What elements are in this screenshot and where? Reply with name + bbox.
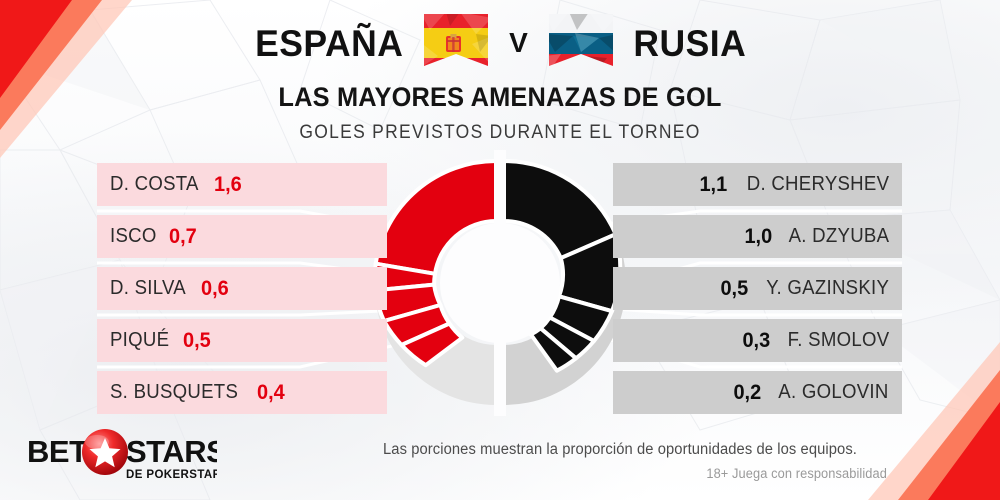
spain-flag-icon xyxy=(420,12,492,74)
legend-row-russia-0[interactable]: 1,1 D. CHERYSHEV xyxy=(613,163,902,206)
chart-footnote: Las porciones muestran la proporción de … xyxy=(354,441,886,459)
player-value: 1,6 xyxy=(214,173,242,197)
legend-panel-spain: D. COSTA 1,6 ISCO 0,7 D. SILVA 0,6 PIQUÉ… xyxy=(97,163,387,423)
betstars-logo[interactable]: BET STARS DE POKERSTARS xyxy=(27,428,217,486)
player-name: D. SILVA xyxy=(110,277,186,300)
player-value: 0,6 xyxy=(201,277,229,301)
player-value: 0,3 xyxy=(743,329,771,353)
team-left-name: ESPAÑA xyxy=(255,25,403,62)
legend-row-russia-1[interactable]: 1,0 A. DZYUBA xyxy=(613,215,902,258)
player-name: D. CHERYSHEV xyxy=(746,173,889,196)
player-value: 0,7 xyxy=(169,225,197,249)
player-value: 0,5 xyxy=(720,277,748,301)
player-value: 1,1 xyxy=(699,173,727,197)
header: ESPAÑA xyxy=(0,0,1000,152)
logo-stars-text: STARS xyxy=(126,434,217,469)
player-name: ISCO xyxy=(110,225,157,248)
legend-row-spain-0[interactable]: D. COSTA 1,6 xyxy=(97,163,387,206)
responsible-gaming-note: 18+ Juega con responsabilidad xyxy=(393,466,887,481)
player-value: 0,5 xyxy=(183,329,211,353)
logo-bet-text: BET xyxy=(27,434,88,469)
legend-row-spain-4[interactable]: S. BUSQUETS 0,4 xyxy=(97,371,387,414)
legend-row-spain-1[interactable]: ISCO 0,7 xyxy=(97,215,387,258)
legend-row-russia-3[interactable]: 0,3 F. SMOLOV xyxy=(613,319,902,362)
logo-tagline-text: DE POKERSTARS xyxy=(126,469,217,481)
player-name: Y. GAZINSKIY xyxy=(766,277,889,300)
headline: LAS MAYORES AMENAZAS DE GOL xyxy=(30,82,970,113)
legend-row-spain-3[interactable]: PIQUÉ 0,5 xyxy=(97,319,387,362)
player-name: F. SMOLOV xyxy=(787,329,889,352)
legend-row-russia-4[interactable]: 0,2 A. GOLOVIN xyxy=(613,371,902,414)
subheadline: GOLES PREVISTOS DURANTE EL TORNEO xyxy=(40,122,960,144)
versus-label: V xyxy=(506,27,531,59)
team-right-name: RUSIA xyxy=(633,25,746,62)
legend-row-russia-2[interactable]: 0,5 Y. GAZINSKIY xyxy=(613,267,902,310)
player-name: A. GOLOVIN xyxy=(779,381,889,404)
player-name: S. BUSQUETS xyxy=(110,381,238,404)
player-value: 0,2 xyxy=(734,381,762,405)
player-value: 1,0 xyxy=(744,225,772,249)
player-name: PIQUÉ xyxy=(110,329,169,352)
legend-row-spain-2[interactable]: D. SILVA 0,6 xyxy=(97,267,387,310)
player-value: 0,4 xyxy=(257,381,285,405)
matchup-title-row: ESPAÑA xyxy=(0,10,1000,76)
legend-panel-russia: 1,1 D. CHERYSHEV 1,0 A. DZYUBA 0,5 Y. GA… xyxy=(613,163,902,423)
player-name: D. COSTA xyxy=(110,173,199,196)
infographic-canvas: ESPAÑA xyxy=(0,0,1000,500)
russia-flag-icon xyxy=(545,12,617,74)
player-name: A. DZYUBA xyxy=(788,225,889,248)
